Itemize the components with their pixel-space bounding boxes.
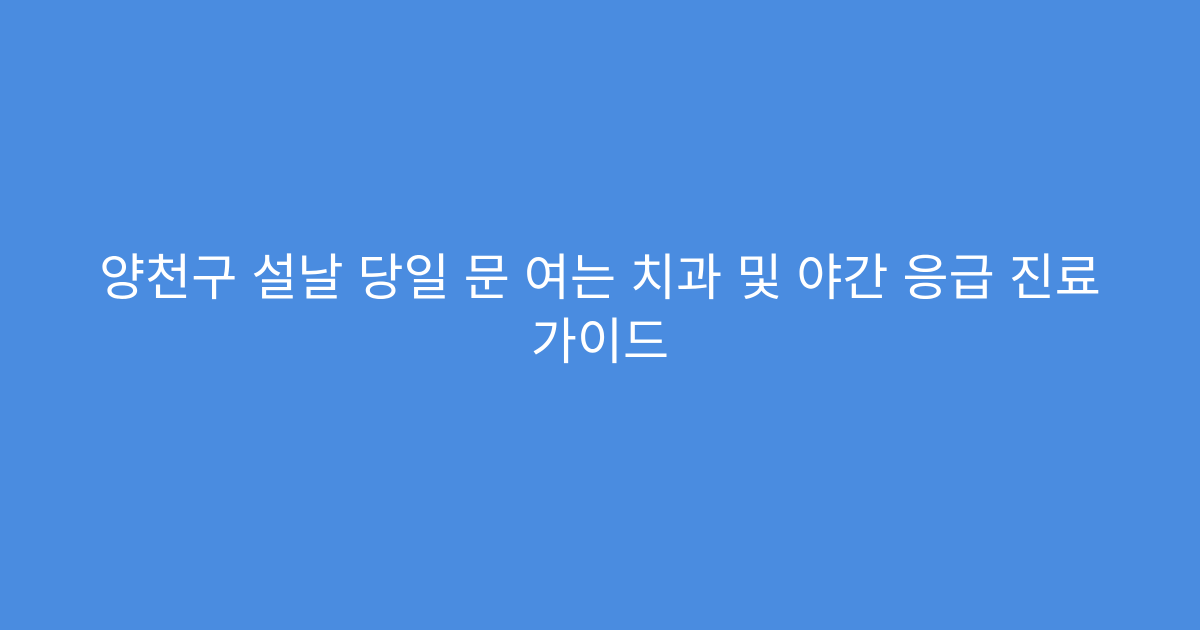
page-title: 양천구 설날 당일 문 여는 치과 및 야간 응급 진료 가이드 <box>78 246 1123 374</box>
banner-card: 양천구 설날 당일 문 여는 치과 및 야간 응급 진료 가이드 <box>0 0 1200 630</box>
title-block: 양천구 설날 당일 문 여는 치과 및 야간 응급 진료 가이드 <box>78 246 1123 384</box>
